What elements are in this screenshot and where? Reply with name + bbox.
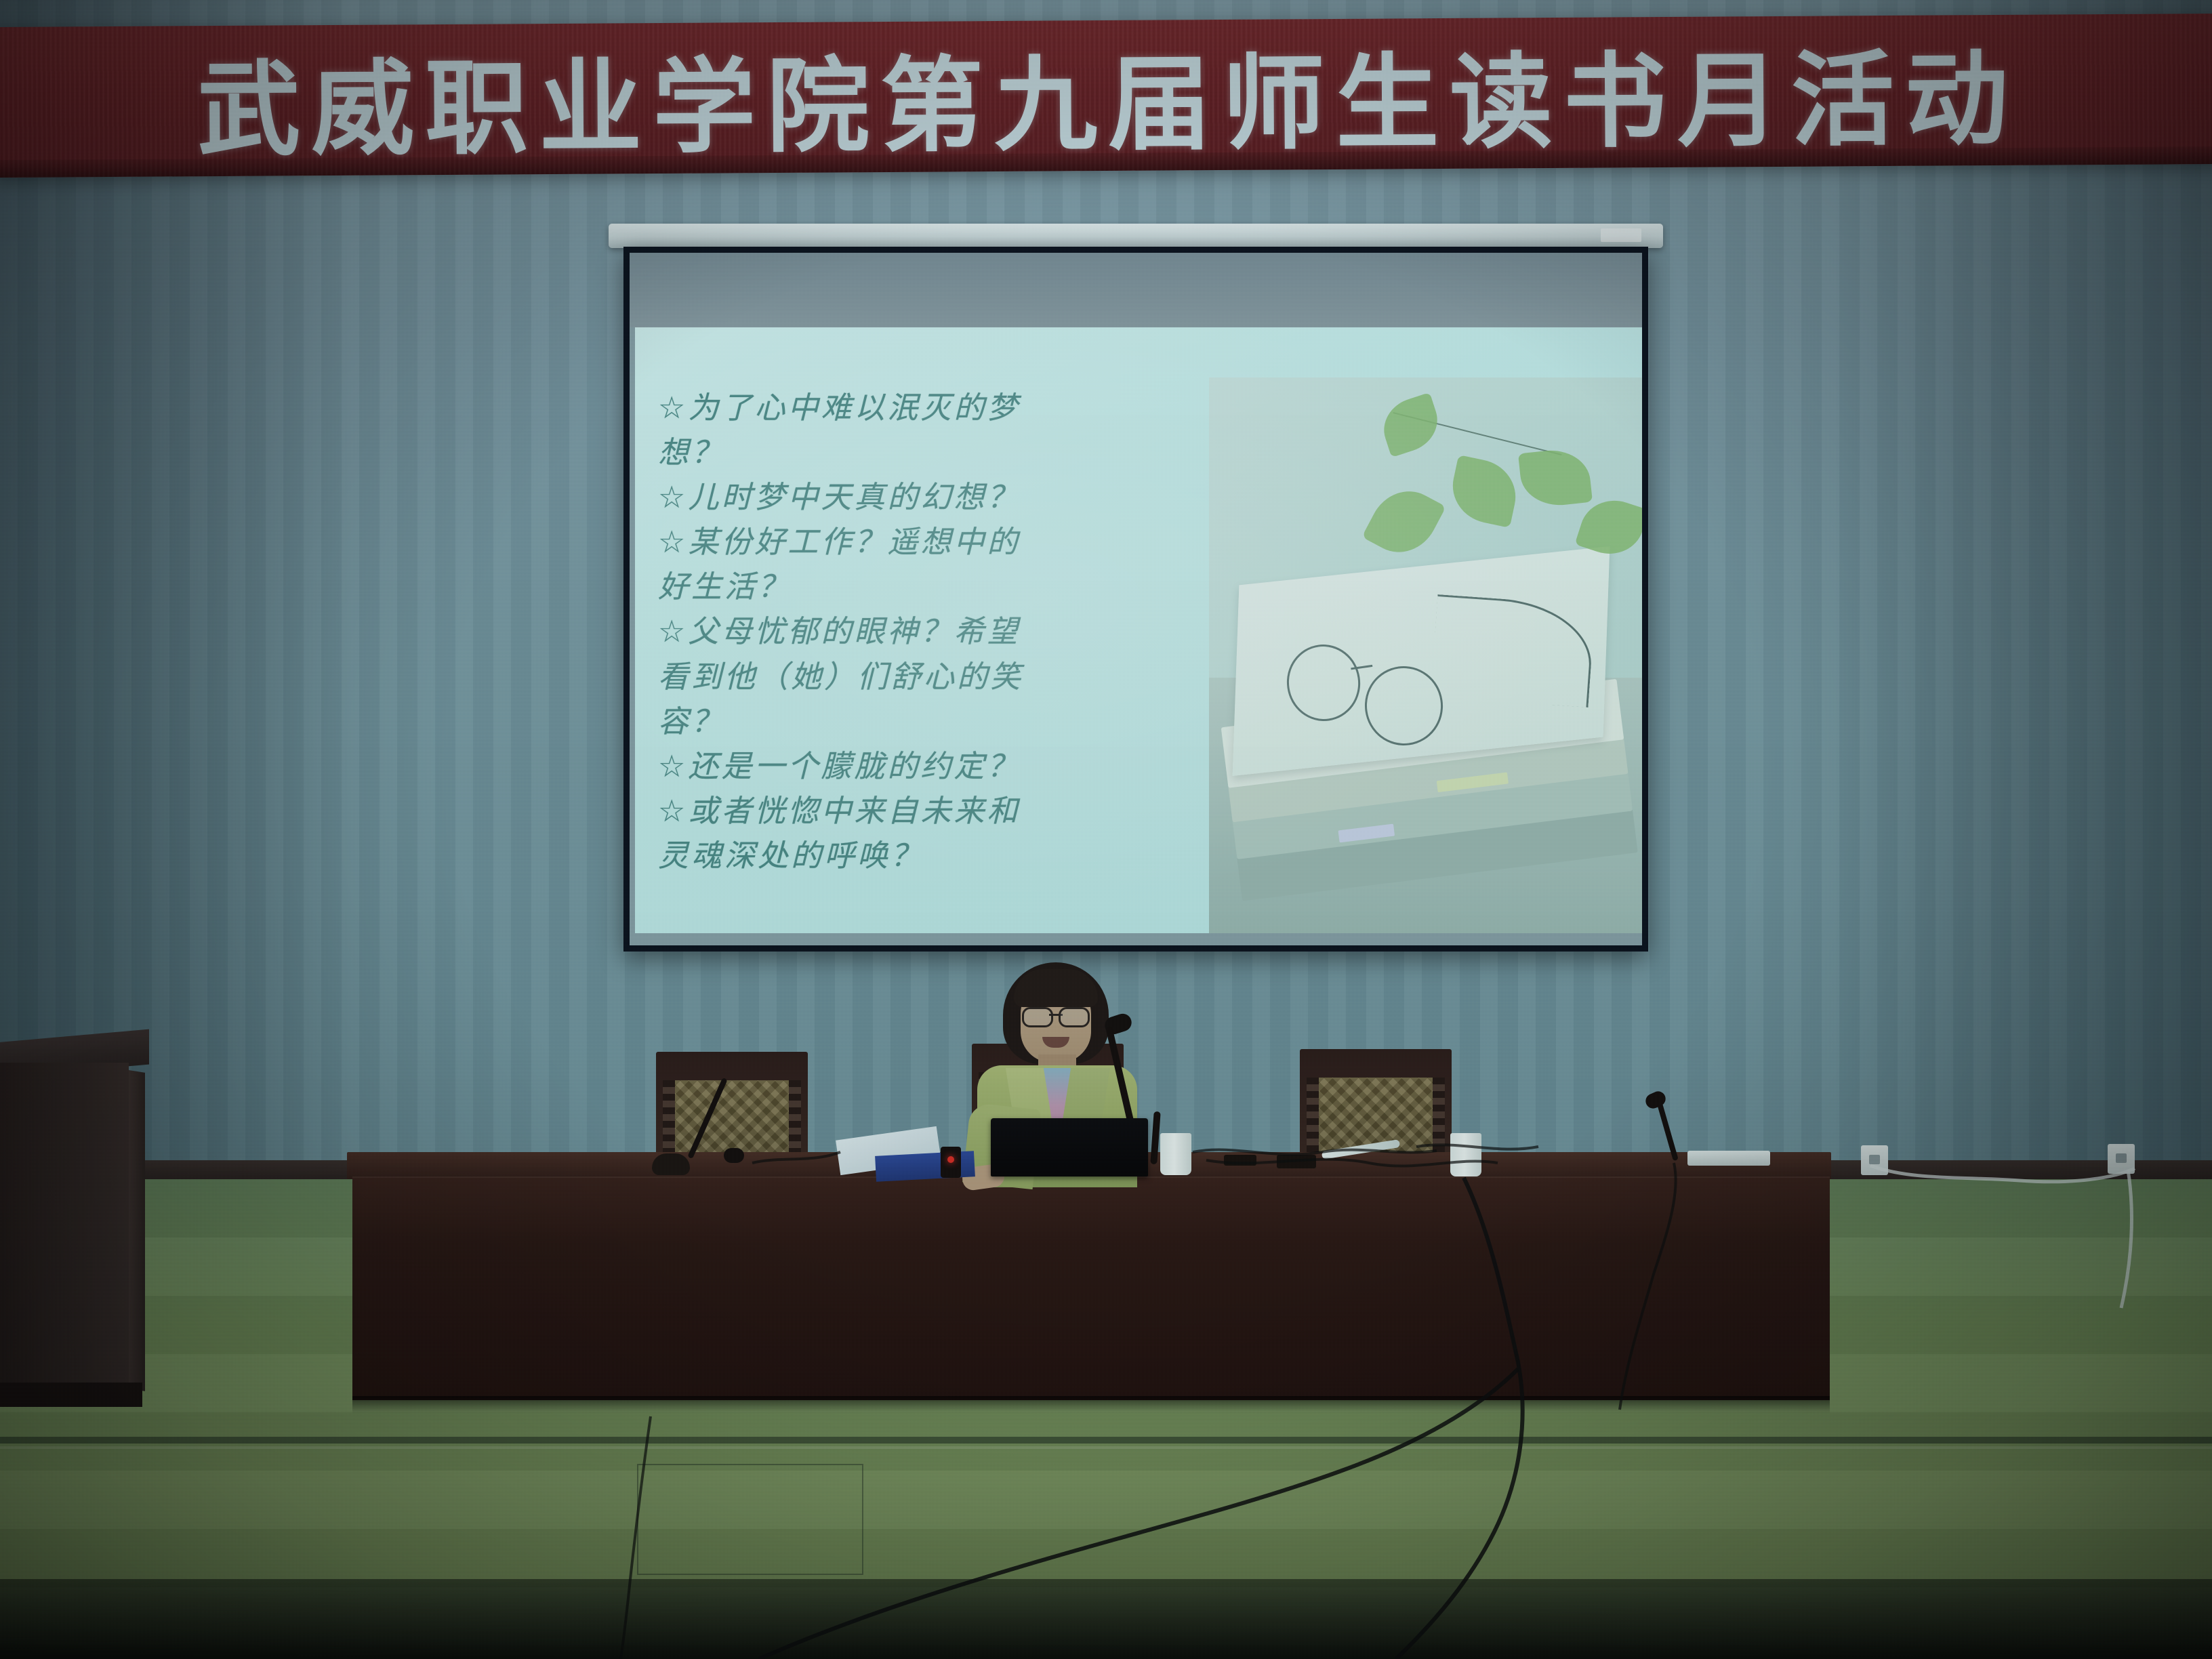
- computer-mouse: [652, 1153, 690, 1175]
- projector-cable-box: [1224, 1155, 1256, 1166]
- leaf-icon: [1361, 478, 1446, 566]
- leaf-icon: [1376, 392, 1445, 457]
- lectern: [0, 1063, 129, 1401]
- slide-line: 看到他（她）们舒心的笑: [658, 656, 1209, 698]
- slide-line: 想？: [658, 432, 1209, 474]
- screen-unlit-band: [630, 253, 1642, 327]
- podium-base: [0, 1382, 142, 1407]
- slide-line: ☆儿时梦中天真的幻想？: [658, 476, 1209, 518]
- projected-slide: ☆为了心中难以泯灭的梦 想？ ☆儿时梦中天真的幻想？ ☆某份好工作？遥想中的 好…: [635, 327, 1642, 933]
- power-strip: [1687, 1151, 1770, 1166]
- second-paper-cup: [1450, 1133, 1481, 1176]
- stage-edge-line: [0, 1437, 2212, 1443]
- slide-line: 好生活？: [658, 566, 1209, 608]
- slide-line: 容？: [658, 701, 1209, 743]
- eyeglasses-icon: [1022, 1007, 1090, 1023]
- screen-surface: ☆为了心中难以泯灭的梦 想？ ☆儿时梦中天真的幻想？ ☆某份好工作？遥想中的 好…: [630, 253, 1642, 945]
- eyeglass-lens-right: [1059, 1007, 1090, 1027]
- slide-line: ☆或者恍惚中来自未来和: [658, 790, 1209, 832]
- event-banner: 武威职业学院第九届师生读书月活动: [0, 14, 2212, 178]
- slide-text-block: ☆为了心中难以泯灭的梦 想？ ☆儿时梦中天真的幻想？ ☆某份好工作？遥想中的 好…: [635, 327, 1209, 933]
- leaf-icon: [1518, 446, 1593, 508]
- photo-scene: 武威职业学院第九届师生读书月活动 ☆为了心中难以泯灭的梦 想？ ☆儿时梦中天真的…: [0, 0, 2212, 1659]
- floor-access-panel: [637, 1464, 863, 1575]
- slide-line: 灵魂深处的呼唤？: [658, 835, 1209, 877]
- slide-photo-books: [1209, 377, 1642, 933]
- wall-outlet-right: [2108, 1144, 2135, 1174]
- wall-shadow-right: [1832, 0, 2212, 1179]
- projection-screen: ☆为了心中难以泯灭的梦 想？ ☆儿时梦中天真的幻想？ ☆某份好工作？遥想中的 好…: [623, 247, 1648, 951]
- eyeglass-lens-left: [1022, 1007, 1053, 1027]
- foreground-shadow: [0, 1579, 2212, 1659]
- wall-outlet-left: [1861, 1145, 1888, 1175]
- slide-line: ☆某份好工作？遥想中的: [658, 521, 1209, 563]
- table-shadow: [352, 1396, 1830, 1414]
- conference-table-front: [352, 1176, 1830, 1400]
- clicker-led-indicator: [947, 1156, 954, 1163]
- slide-line: ☆为了心中难以泯灭的梦: [658, 387, 1209, 429]
- paper-cup: [1160, 1133, 1191, 1175]
- leaf-icon: [1446, 455, 1523, 528]
- glasses-bridge-icon: [1351, 665, 1374, 687]
- slide-line: ☆父母忧郁的眼神？希望: [658, 611, 1209, 653]
- microphone-left-base: [724, 1148, 744, 1163]
- hair-top: [1014, 969, 1098, 1007]
- power-adapter: [1277, 1155, 1316, 1168]
- screen-roller-housing: [609, 224, 1663, 248]
- stage-edge-highlight: [0, 1446, 2212, 1449]
- slide-line: ☆还是一个朦胧的约定？: [658, 745, 1209, 787]
- housing-label: [1601, 228, 1641, 242]
- laptop: [991, 1118, 1148, 1176]
